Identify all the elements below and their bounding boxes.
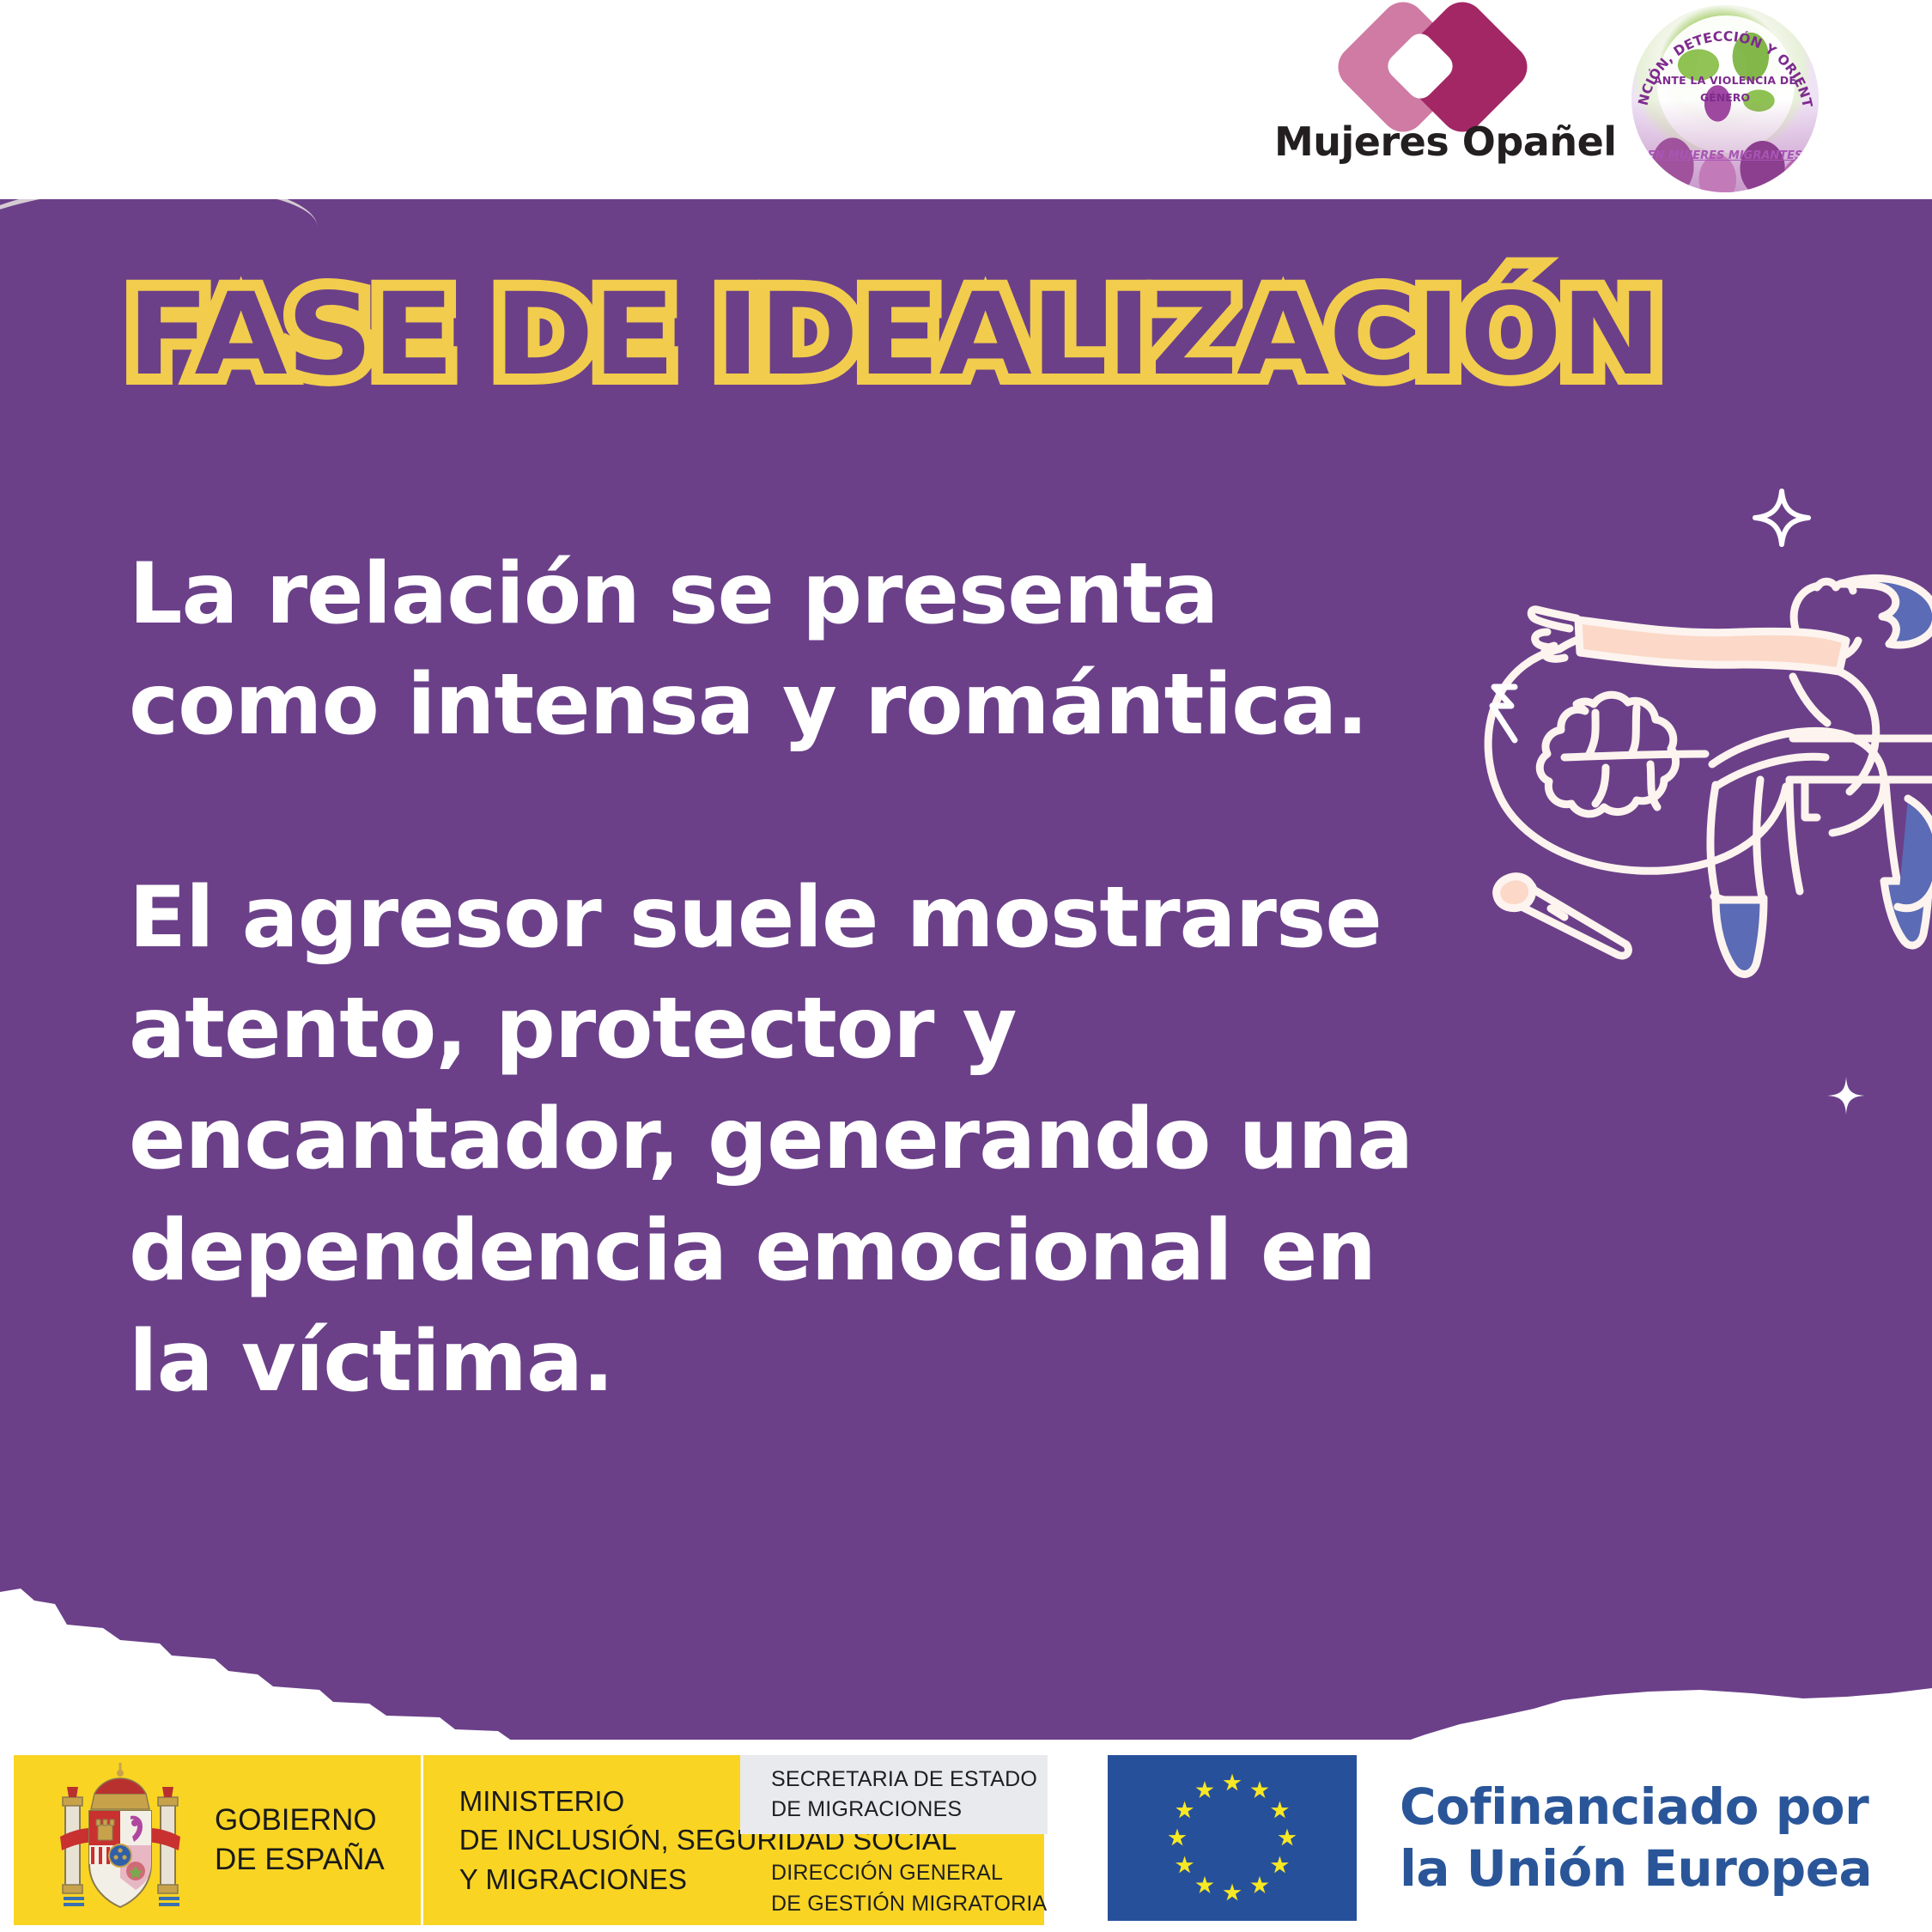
- direccion-line-1: DIRECCIÓN GENERAL: [771, 1858, 1084, 1889]
- poster-canvas: FASE DE IDEALIZACIÓN La relación se pres…: [0, 0, 1932, 1932]
- eu-star-icon: [1271, 1856, 1289, 1874]
- direccion-line-2: DE GESTIÓN MIGRATORIA: [771, 1889, 1084, 1920]
- small-plus-sparkle-icon: [1822, 1072, 1870, 1120]
- project-badge-logo: PREVENCIÓN, DETECCIÓN Y ORIENTACIÓN ANTE…: [1631, 5, 1819, 192]
- eu-star-icon: [1279, 1829, 1297, 1846]
- badge-line-4: EN MUJERES MIGRANTES: [1631, 149, 1819, 162]
- eu-funding-text: Cofinanciado por la Unión Europea: [1400, 1777, 1872, 1900]
- eu-star-icon: [1224, 1774, 1242, 1791]
- paragraph-two: El agresor suele mostrarse atento, prote…: [129, 863, 1468, 1419]
- opanel-wordmark: Mujeres Opañel: [1274, 118, 1580, 165]
- opanel-diamond-mark-icon: [1274, 7, 1580, 127]
- mujeres-opanel-logo: Mujeres Opañel: [1274, 7, 1580, 184]
- gobierno-line-2: DE ESPAÑA: [215, 1840, 385, 1880]
- european-union-logo: Cofinanciado por la Unión Europea: [1108, 1755, 1872, 1921]
- page-title: FASE DE IDEALIZACIÓN: [127, 278, 1661, 392]
- eu-star-icon: [1224, 1884, 1242, 1901]
- badge-line-2: ANTE LA VIOLENCIA DE: [1631, 74, 1819, 87]
- body-copy: La relación se presenta como intensa y r…: [129, 539, 1468, 1419]
- gobierno-line-1: GOBIERNO: [215, 1801, 385, 1840]
- eu-star-icon: [1169, 1829, 1187, 1846]
- lightning-zigzag-icon: [1485, 683, 1530, 744]
- eu-star-icon: [1251, 1781, 1269, 1798]
- header-bar: Mujeres Opañel PREVENCIÓN, DETECCIÓN Y O…: [0, 0, 1932, 199]
- four-point-sparkle-icon: [1752, 488, 1812, 548]
- torn-paper-edge: [0, 1518, 1932, 1741]
- secretaria-line-1: SECRETARIA DE ESTADO: [771, 1765, 1048, 1795]
- eu-star-icon: [1251, 1876, 1269, 1893]
- badge-line-3: GÉNERO: [1631, 91, 1819, 104]
- gobierno-text: GOBIERNO DE ESPAÑA: [215, 1801, 385, 1880]
- secretaria-de-estado-block: SECRETARIA DE ESTADO DE MIGRACIONES: [740, 1755, 1048, 1834]
- eu-star-icon: [1176, 1856, 1194, 1874]
- eu-flag-icon: [1108, 1755, 1357, 1921]
- footer-bar: GOBIERNO DE ESPAÑA MINISTERIO DE INCLUSI…: [0, 1748, 1932, 1932]
- eu-star-icon: [1271, 1801, 1289, 1819]
- eu-star-icon: [1196, 1876, 1214, 1893]
- person-sitting-on-brain-illustration: [1458, 481, 1932, 1082]
- eu-stars: [1108, 1755, 1357, 1921]
- paragraph-one: La relación se presenta como intensa y r…: [129, 539, 1468, 762]
- spain-coat-of-arms-icon: [52, 1763, 189, 1917]
- eu-line-2: la Unión Europea: [1400, 1838, 1872, 1900]
- eu-star-icon: [1196, 1781, 1214, 1798]
- secretaria-line-2: DE MIGRACIONES: [771, 1795, 1048, 1826]
- footer-divider: [421, 1755, 423, 1925]
- eu-star-icon: [1176, 1801, 1194, 1819]
- direccion-general-block: DIRECCIÓN GENERAL DE GESTIÓN MIGRATORIA: [740, 1858, 1084, 1919]
- paragraph-spacer: [129, 762, 1468, 863]
- eu-line-1: Cofinanciado por: [1400, 1777, 1872, 1838]
